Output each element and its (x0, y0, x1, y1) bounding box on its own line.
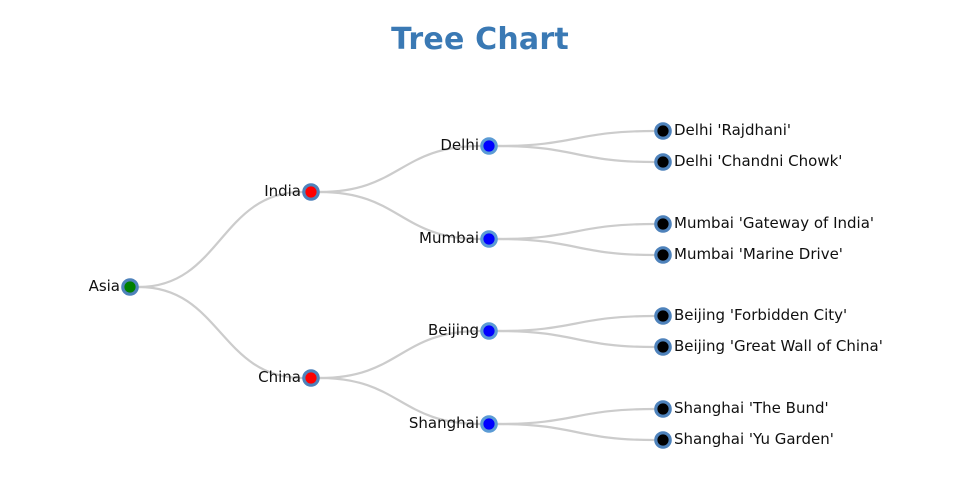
node-label-mumbai: Mumbai (419, 231, 479, 246)
tree-edge (498, 146, 654, 162)
node-label-beijing-great-wall-of-china: Beijing 'Great Wall of China' (674, 339, 883, 354)
node-label-asia: Asia (89, 279, 120, 294)
node-label-beijing-forbidden-city: Beijing 'Forbidden City' (674, 308, 847, 323)
tree-node-beijing-great-wall-of-china[interactable] (656, 340, 670, 354)
tree-node-mumbai-gateway-of-india[interactable] (656, 217, 670, 231)
tree-chart-canvas: Tree Chart AsiaIndiaChinaDelhiMumbaiBeij… (0, 0, 960, 500)
tree-node-mumbai[interactable] (482, 232, 496, 246)
node-label-china: China (258, 370, 301, 385)
node-label-shanghai-the-bund: Shanghai 'The Bund' (674, 401, 829, 416)
tree-edge (498, 131, 654, 146)
tree-node-delhi-rajdhani[interactable] (656, 124, 670, 138)
tree-node-china[interactable] (304, 371, 318, 385)
node-label-india: India (264, 184, 301, 199)
node-label-delhi: Delhi (440, 138, 479, 153)
node-label-mumbai-gateway-of-india: Mumbai 'Gateway of India' (674, 216, 874, 231)
tree-node-india[interactable] (304, 185, 318, 199)
node-label-shanghai: Shanghai (409, 416, 479, 431)
tree-node-delhi[interactable] (482, 139, 496, 153)
tree-node-beijing[interactable] (482, 324, 496, 338)
node-label-delhi-chandni-chowk: Delhi 'Chandni Chowk' (674, 154, 842, 169)
tree-node-mumbai-marine-drive[interactable] (656, 248, 670, 262)
node-label-beijing: Beijing (428, 323, 479, 338)
tree-edge (139, 192, 302, 287)
node-label-delhi-rajdhani: Delhi 'Rajdhani' (674, 123, 791, 138)
tree-node-shanghai-yu-garden[interactable] (656, 433, 670, 447)
tree-node-asia[interactable] (123, 280, 137, 294)
node-label-mumbai-marine-drive: Mumbai 'Marine Drive' (674, 247, 843, 262)
tree-edge (498, 424, 654, 440)
tree-node-shanghai[interactable] (482, 417, 496, 431)
tree-edge (498, 224, 654, 239)
tree-node-shanghai-the-bund[interactable] (656, 402, 670, 416)
tree-node-beijing-forbidden-city[interactable] (656, 309, 670, 323)
tree-edge (498, 409, 654, 424)
tree-edge (498, 239, 654, 255)
edges-layer (139, 131, 654, 440)
node-label-shanghai-yu-garden: Shanghai 'Yu Garden' (674, 432, 834, 447)
tree-edge (139, 287, 302, 378)
tree-node-delhi-chandni-chowk[interactable] (656, 155, 670, 169)
tree-edge (498, 331, 654, 347)
tree-edge (498, 316, 654, 331)
